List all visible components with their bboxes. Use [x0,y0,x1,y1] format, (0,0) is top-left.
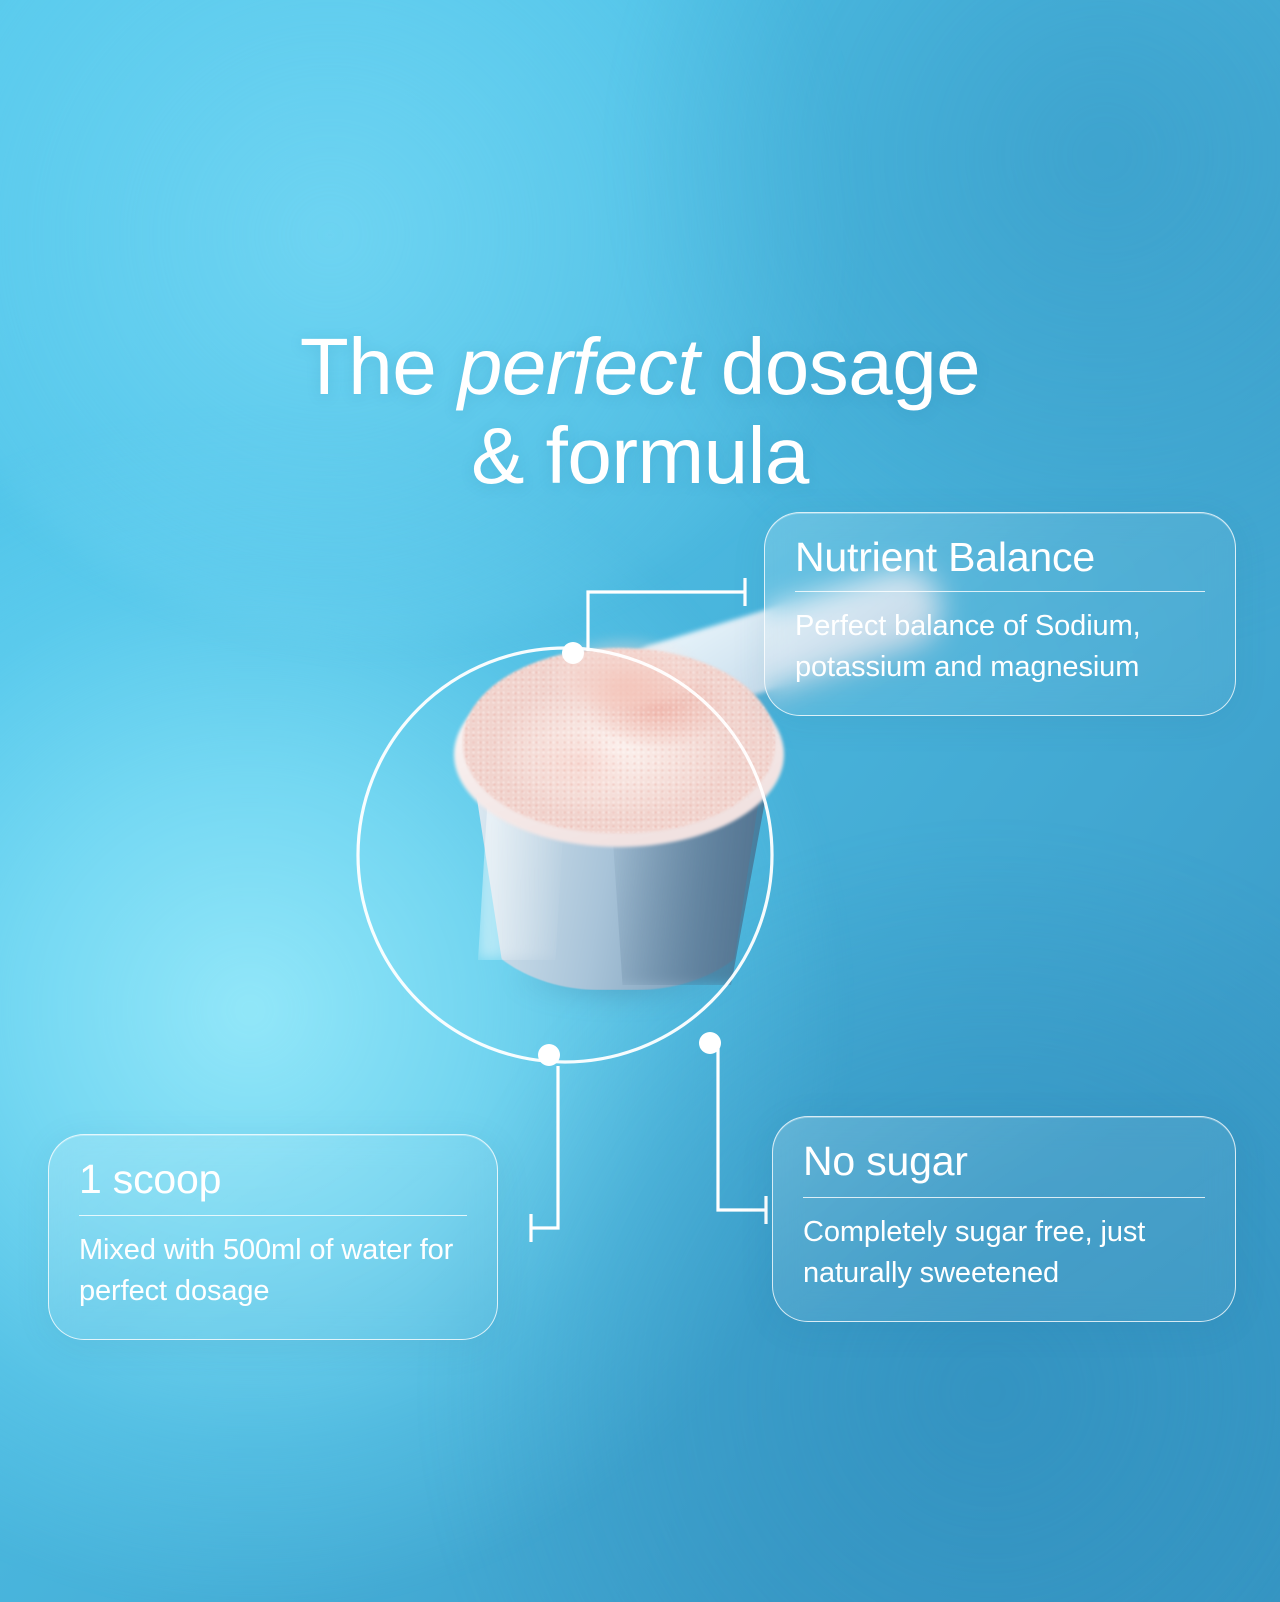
page-title: The perfect dosage & formula [0,322,1280,501]
callout-card-no-sugar[interactable]: No sugar Completely sugar free, just nat… [772,1116,1236,1322]
card-title-no-sugar: No sugar [803,1139,1205,1185]
card-divider [79,1215,467,1216]
callout-card-one-scoop[interactable]: 1 scoop Mixed with 500ml of water for pe… [48,1134,498,1340]
card-title-one-scoop: 1 scoop [79,1157,467,1203]
powder-mound-highlight [550,638,700,708]
headline-text-dosage: dosage [699,322,980,411]
card-body-one-scoop: Mixed with 500ml of water for perfect do… [79,1230,467,1312]
card-body-no-sugar: Completely sugar free, just naturally sw… [803,1212,1205,1294]
card-divider [803,1197,1205,1198]
headline-line-2: & formula [0,411,1280,501]
infographic-poster: The perfect dosage & formula [0,0,1280,1602]
card-body-nutrient-balance: Perfect balance of Sodium, potassium and… [795,606,1205,688]
card-title-nutrient-balance: Nutrient Balance [795,535,1205,581]
headline-text-the: The [300,322,458,411]
card-divider [795,591,1205,592]
headline-emphasis-perfect: perfect [458,322,699,411]
callout-card-nutrient-balance[interactable]: Nutrient Balance Perfect balance of Sodi… [764,512,1236,716]
headline-line-1: The perfect dosage [300,322,980,411]
